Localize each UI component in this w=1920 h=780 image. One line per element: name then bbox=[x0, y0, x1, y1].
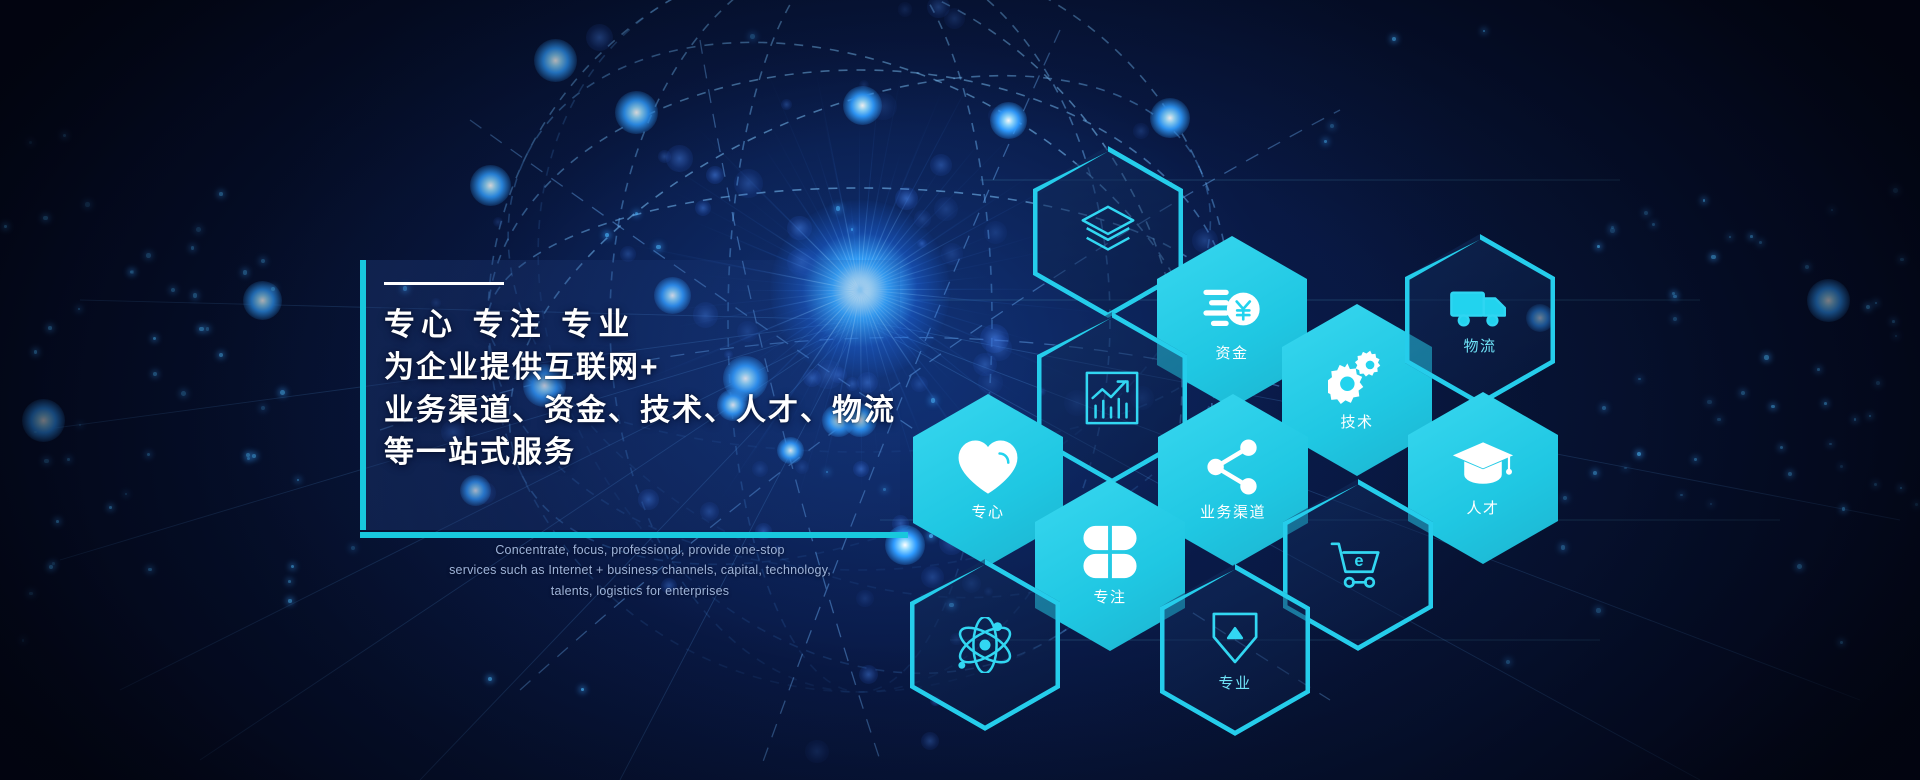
shopping-cart-e-icon: e bbox=[1329, 539, 1387, 591]
banner-stage: 专心 专注 专业 为企业提供互联网+ 业务渠道、资金、技术、人才、物流 等一站式… bbox=[0, 0, 1920, 780]
hexagon-cluster: 资金 技术 物流 专心 业务渠道 人才 专注 bbox=[0, 0, 1920, 780]
hexagon-label: 业务渠道 bbox=[1200, 501, 1266, 522]
hexagon-label: 物流 bbox=[1463, 335, 1496, 356]
heart-icon bbox=[957, 439, 1019, 495]
svg-text:e: e bbox=[1354, 552, 1363, 570]
atom-icon bbox=[954, 617, 1016, 673]
share-nodes-icon bbox=[1205, 439, 1261, 495]
chart-growth-icon bbox=[1083, 369, 1141, 427]
layers-icon bbox=[1077, 201, 1139, 263]
gears-icon bbox=[1328, 349, 1386, 405]
hexagon-label: 人才 bbox=[1466, 497, 1499, 518]
hexagon-label: 技术 bbox=[1340, 411, 1373, 432]
hexagon-label: 专心 bbox=[971, 501, 1004, 522]
hexagon-label: 资金 bbox=[1215, 342, 1248, 363]
hexagon-label: 专注 bbox=[1093, 586, 1126, 607]
money-yen-icon bbox=[1202, 282, 1262, 336]
graduation-cap-icon bbox=[1452, 439, 1514, 491]
diamond-icon bbox=[1210, 608, 1260, 666]
truck-icon bbox=[1449, 285, 1511, 329]
clover-icon bbox=[1082, 524, 1138, 580]
hexagon-label: 专业 bbox=[1218, 672, 1251, 693]
